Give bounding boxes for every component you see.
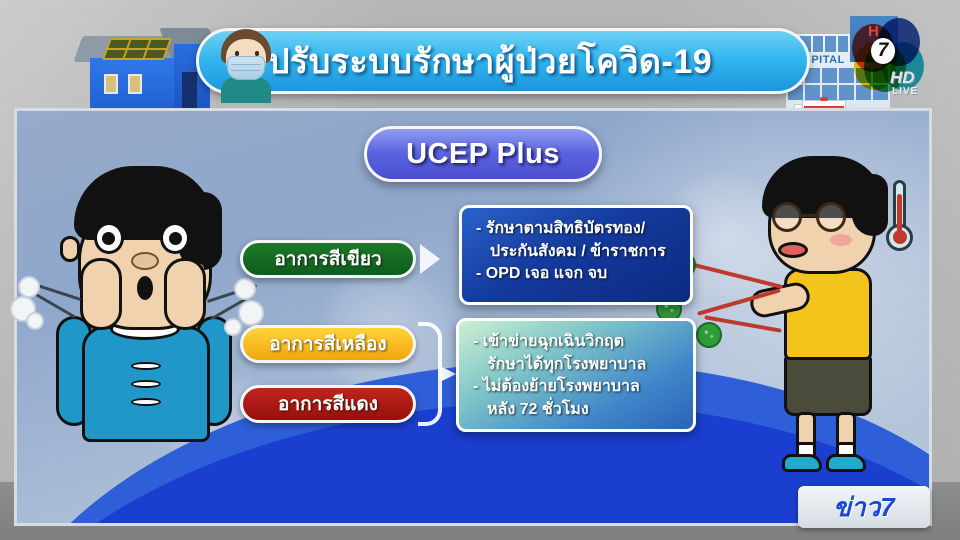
nose [131,252,159,270]
sneezing-man-illustration [38,166,252,442]
symptom-level-green-label: อาการสีเขียว [274,244,381,274]
thermometer-icon [884,180,914,262]
page-title: ปรับระบบรักษาผู้ป่วยโควิด-19 [199,34,807,88]
sneeze-puff [234,278,256,300]
house-window [128,74,142,94]
glasses-lens [816,202,846,232]
hand [164,258,206,330]
shirt-button [131,362,161,370]
info-line: - ไม่ต้องย้ายโรงพยาบาล [473,376,679,399]
blush [830,234,852,246]
shoe [826,454,866,472]
shorts [784,354,872,416]
hand [80,258,122,330]
symptom-level-red[interactable]: อาการสีแดง [240,385,416,423]
info-line: - เข้าข่ายฉุกเฉินวิกฤต [473,331,679,354]
headline-banner: ปรับระบบรักษาผู้ป่วยโควิด-19 [196,28,810,94]
arrow-right-icon [420,244,450,274]
shoe [782,454,822,472]
house-with-solar-panels-icon [62,14,212,114]
ucep-plus-badge: UCEP Plus [364,126,602,182]
symptom-level-yellow-label: อาการสีเหลือง [269,329,386,359]
news-watermark-label: ข่าว7 [833,487,894,528]
symptom-level-red-label: อาการสีแดง [278,389,378,419]
info-line: หลัง 72 ชั่วโมง [473,399,679,422]
info-line: - รักษาตามสิทธิบัตรทอง/ [476,218,676,241]
open-mouth [137,276,153,300]
hd-badge: HD [890,68,915,88]
symptom-level-yellow[interactable]: อาการสีเหลือง [240,325,416,363]
info-line: ประกันสังคม / ข้าราชการ [476,241,676,264]
info-line: - OPD เจอ แจก จบ [476,263,676,286]
shirt-button [131,398,161,406]
face-mask-icon [227,56,265,80]
sneeze-puff [238,300,264,326]
green-level-info-box: - รักษาตามสิทธิบัตรทอง/ ประกันสังคม / ข้… [459,205,693,305]
sneeze-puff [18,276,40,298]
shirt-button [131,380,161,388]
hair-side [852,174,888,236]
sneeze-puff [26,312,44,330]
glasses-lens [772,202,802,232]
virus-particle-icon [696,322,722,348]
coughing-mouth [778,242,808,258]
channel-7-logo: 7 HD LIVE [852,18,924,104]
pupil [102,232,115,245]
sneeze-puff [224,318,242,336]
solar-panel-icon [102,38,172,60]
masked-person-avatar-icon [209,23,283,103]
thermometer-mercury-bulb [893,230,907,244]
ambulance-light [820,97,828,101]
avatar-body [221,77,271,103]
ear [60,236,80,262]
house-window [104,74,118,94]
yellow-red-level-info-box: - เข้าข่ายฉุกเฉินวิกฤต รักษาได้ทุกโรงพยา… [456,318,696,432]
live-badge: LIVE [892,86,918,97]
channel-number: 7 [871,38,895,64]
ucep-plus-label: UCEP Plus [406,138,560,171]
news-channel-watermark: ข่าว7 [798,486,930,528]
glasses-bridge [802,214,816,217]
curly-brace-icon [418,322,442,426]
pupil [169,232,182,245]
info-line: รักษาได้ทุกโรงพยาบาล [473,354,679,377]
symptom-level-green[interactable]: อาการสีเขียว [240,240,416,278]
